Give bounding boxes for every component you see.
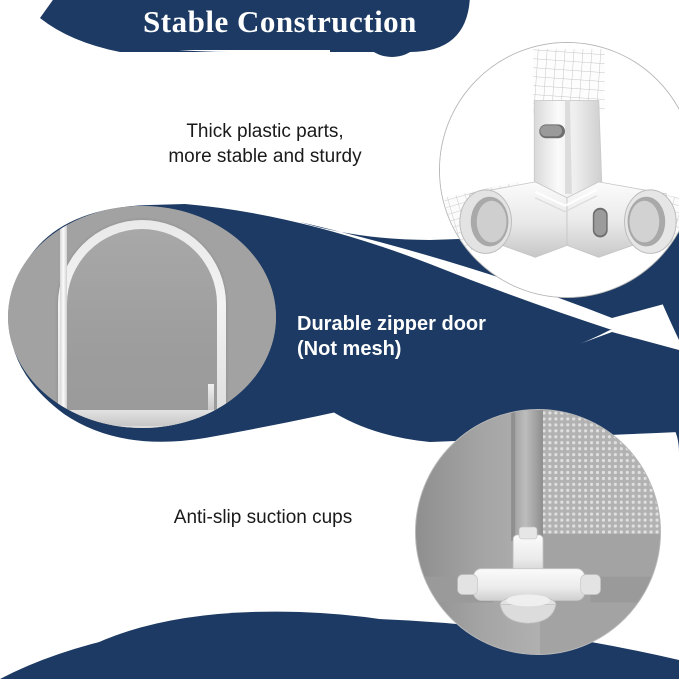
suction-cup-illustration — [416, 410, 660, 654]
door-sill — [52, 410, 234, 426]
corner-connector-illustration — [440, 43, 679, 297]
caption-line: Thick plastic parts, — [120, 119, 410, 144]
caption-durable-zipper-door: Durable zipper door (Not mesh) — [297, 312, 547, 362]
infographic-canvas: Stable Construction — [0, 0, 679, 679]
caption-line: Anti-slip suction cups — [118, 505, 408, 530]
panel-corner-connector — [439, 42, 679, 298]
connector-left-arm — [460, 182, 567, 257]
caption-line: Durable zipper door — [297, 312, 547, 337]
caption-anti-slip-suction-cups: Anti-slip suction cups — [118, 505, 408, 530]
caption-line: (Not mesh) — [297, 337, 547, 362]
page-title: Stable Construction — [110, 2, 450, 42]
zipper-track — [60, 224, 67, 424]
rail-right — [591, 577, 660, 603]
caption-line: more stable and sturdy — [120, 144, 410, 169]
corner-post — [511, 410, 543, 541]
connector-right-arm — [567, 182, 676, 257]
panel-zipper-door — [8, 206, 276, 428]
caption-thick-plastic-parts: Thick plastic parts, more stable and stu… — [120, 119, 410, 169]
door-panel-surface — [67, 229, 217, 425]
panel-suction-cup — [415, 409, 661, 655]
